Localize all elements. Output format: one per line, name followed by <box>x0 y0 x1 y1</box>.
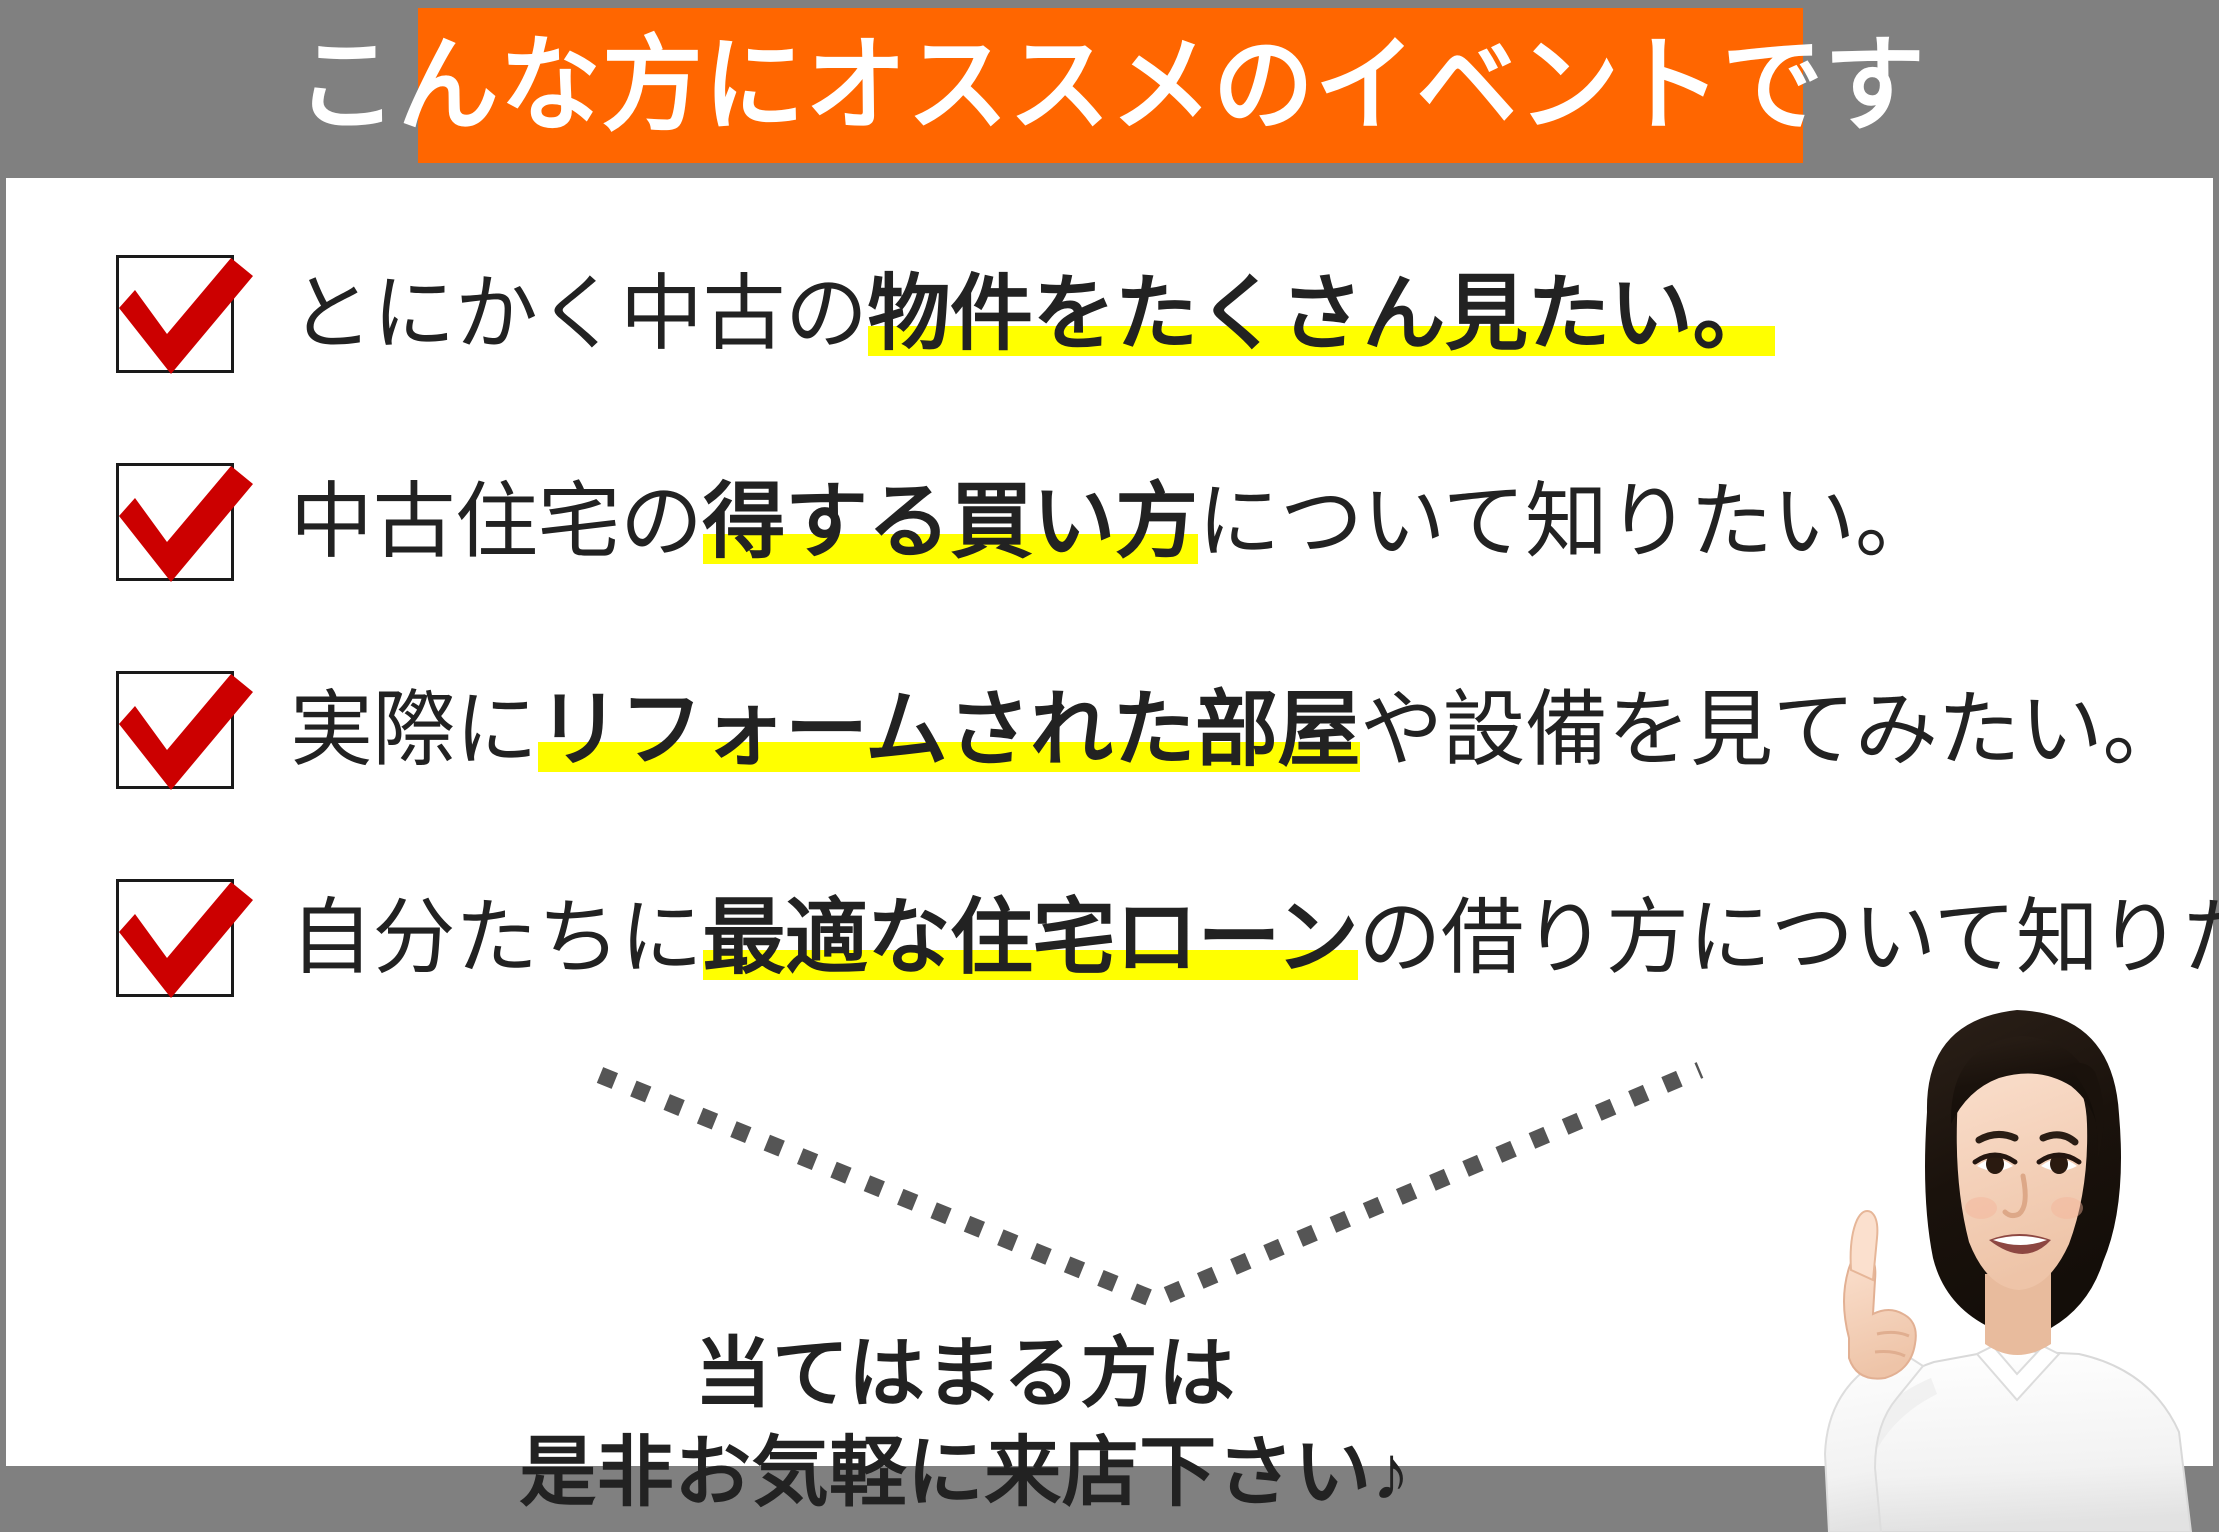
check-mark-icon <box>105 450 265 600</box>
checklist-text: 実際にリフォームされた部屋や設備を見てみたい。 <box>290 686 2185 773</box>
checkbox[interactable] <box>116 255 234 373</box>
text-plain-before: とにかく中古の <box>290 267 868 360</box>
check-mark-icon <box>105 658 265 808</box>
check-mark-icon <box>105 242 265 392</box>
check-mark-icon <box>105 866 265 1016</box>
checkbox[interactable] <box>116 671 234 789</box>
woman-pointing-photo <box>1699 962 2219 1532</box>
text-highlighted: 物件をたくさん見たい。 <box>868 270 1776 357</box>
cta-block: 当てはまる方は 是非お気軽に来店下さい♪ <box>0 1325 1930 1522</box>
checklist-item[interactable]: 実際にリフォームされた部屋や設備を見てみたい。 <box>0 626 2219 834</box>
promo-poster: こんな方にオススメのイベントです とにかく中古の物件をたくさん見たい。 中古住宅 <box>0 0 2219 1532</box>
text-plain-after: や設備を見てみたい。 <box>1360 683 2185 776</box>
header-banner: こんな方にオススメのイベントです <box>418 8 1803 163</box>
checklist-item[interactable]: 中古住宅の得する買い方について知りたい。 <box>0 418 2219 626</box>
header-title: こんな方にオススメのイベントです <box>296 34 1926 138</box>
checklist: とにかく中古の物件をたくさん見たい。 中古住宅の得する買い方について知りたい。 <box>0 210 2219 1042</box>
checklist-text: とにかく中古の物件をたくさん見たい。 <box>290 270 1775 357</box>
checklist-item[interactable]: とにかく中古の物件をたくさん見たい。 <box>0 210 2219 418</box>
text-highlighted: 最適な住宅ローン <box>703 894 1359 981</box>
text-plain-before: 中古住宅の <box>290 475 703 568</box>
cta-line-2: 是非お気軽に来店下さい♪ <box>0 1424 1930 1523</box>
text-highlighted: リフォームされた部屋 <box>538 686 1361 773</box>
text-plain-after: について知りたい。 <box>1198 475 1938 568</box>
checkbox[interactable] <box>116 463 234 581</box>
text-highlighted: 得する買い方 <box>703 478 1198 565</box>
dotted-chevron-down-icon <box>590 1055 1710 1355</box>
checkbox[interactable] <box>116 879 234 997</box>
text-plain-before: 自分たちに <box>290 891 703 984</box>
cta-line-1: 当てはまる方は <box>0 1325 1930 1424</box>
checklist-text: 中古住宅の得する買い方について知りたい。 <box>290 478 1938 565</box>
text-plain-before: 実際に <box>290 683 538 776</box>
